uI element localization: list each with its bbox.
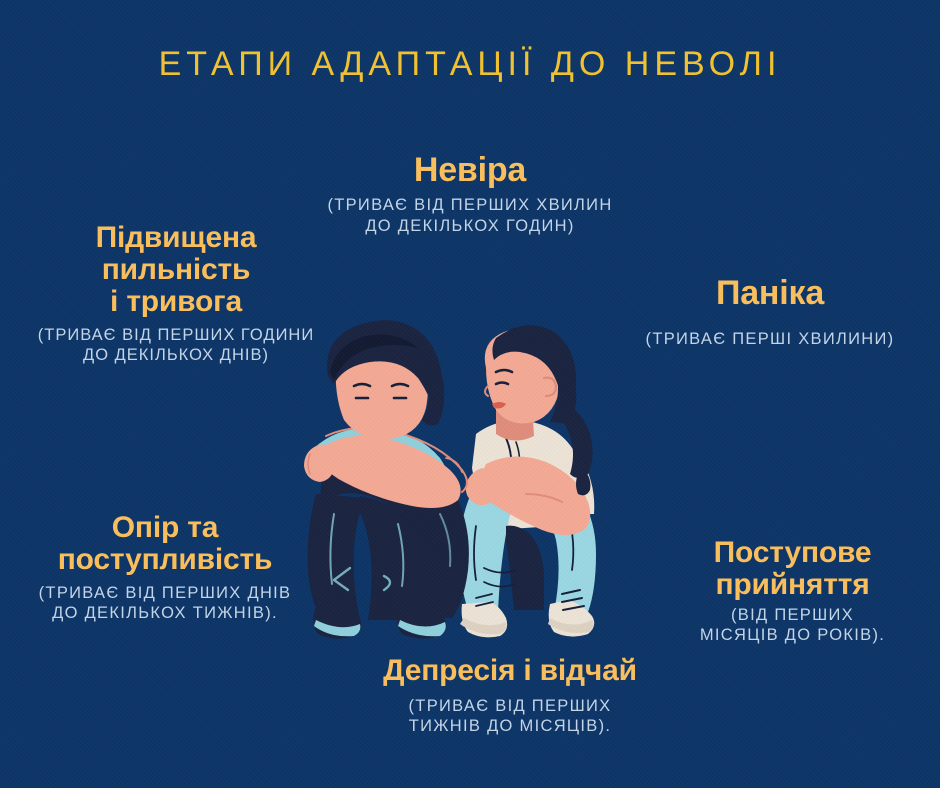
infographic-poster: ЕТАПИ АДАПТАЦІЇ ДО НЕВОЛІ <box>0 0 940 788</box>
stage-depression-title: Депресія і відчай <box>310 655 710 687</box>
stage-panic: Паніка (ТРИВАЄ ПЕРШІ ХВИЛИНИ) <box>600 275 940 350</box>
stage-acceptance-title: Поступовеприйняття <box>645 537 940 601</box>
stage-vigilance: Підвищенапильністьі тривога (ТРИВАЄ ВІД … <box>0 222 356 366</box>
stage-vigilance-subtitle: (ТРИВАЄ ВІД ПЕРШИХ ГОДИНИДО ДЕКІЛЬКОХ ДН… <box>0 325 356 365</box>
stage-neviera-title: Невіра <box>250 152 690 188</box>
two-children-sitting-illustration <box>300 318 630 648</box>
stage-depression-subtitle: (ТРИВАЄ ВІД ПЕРШИХТИЖНІВ ДО МІСЯЦІВ). <box>310 696 710 736</box>
stage-vigilance-title: Підвищенапильністьі тривога <box>0 222 356 318</box>
page-title: ЕТАПИ АДАПТАЦІЇ ДО НЕВОЛІ <box>0 45 940 84</box>
stage-acceptance: Поступовеприйняття (ВІД ПЕРШИХМІСЯЦІВ ДО… <box>645 537 940 645</box>
stage-resist-subtitle: (ТРИВАЄ ВІД ПЕРШИХ ДНІВДО ДЕКІЛЬКОХ ТИЖН… <box>0 583 330 623</box>
stage-depression: Депресія і відчай (ТРИВАЄ ВІД ПЕРШИХТИЖН… <box>310 655 710 736</box>
stage-resist-title: Опір тапоступливість <box>0 512 330 576</box>
stage-panic-title: Паніка <box>600 275 940 311</box>
stage-panic-subtitle: (ТРИВАЄ ПЕРШІ ХВИЛИНИ) <box>600 329 940 349</box>
stage-resist: Опір тапоступливість (ТРИВАЄ ВІД ПЕРШИХ … <box>0 512 330 623</box>
stage-acceptance-subtitle: (ВІД ПЕРШИХМІСЯЦІВ ДО РОКІВ). <box>645 605 940 645</box>
illustration-svg <box>300 318 630 648</box>
